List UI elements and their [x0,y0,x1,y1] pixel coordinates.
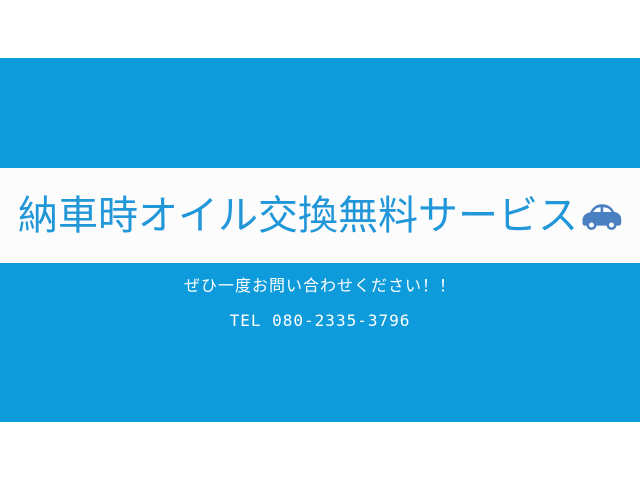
headline-band: 納車時オイル交換無料サービス [0,168,640,263]
contact-prompt-text: ぜひ一度お問い合わせください！！ [0,278,640,294]
message-band: ぜひ一度お問い合わせください！！ TEL 080-2335-3796 [0,263,640,422]
headline-text: 納車時オイル交換無料サービス [18,196,578,236]
promo-banner: 納車時オイル交換無料サービス ぜひ一度お問い合わせください！！ TEL 080-… [0,0,640,480]
car-icon [578,199,624,233]
top-blue-band [0,58,640,168]
telephone-number: TEL 080-2335-3796 [0,313,640,329]
